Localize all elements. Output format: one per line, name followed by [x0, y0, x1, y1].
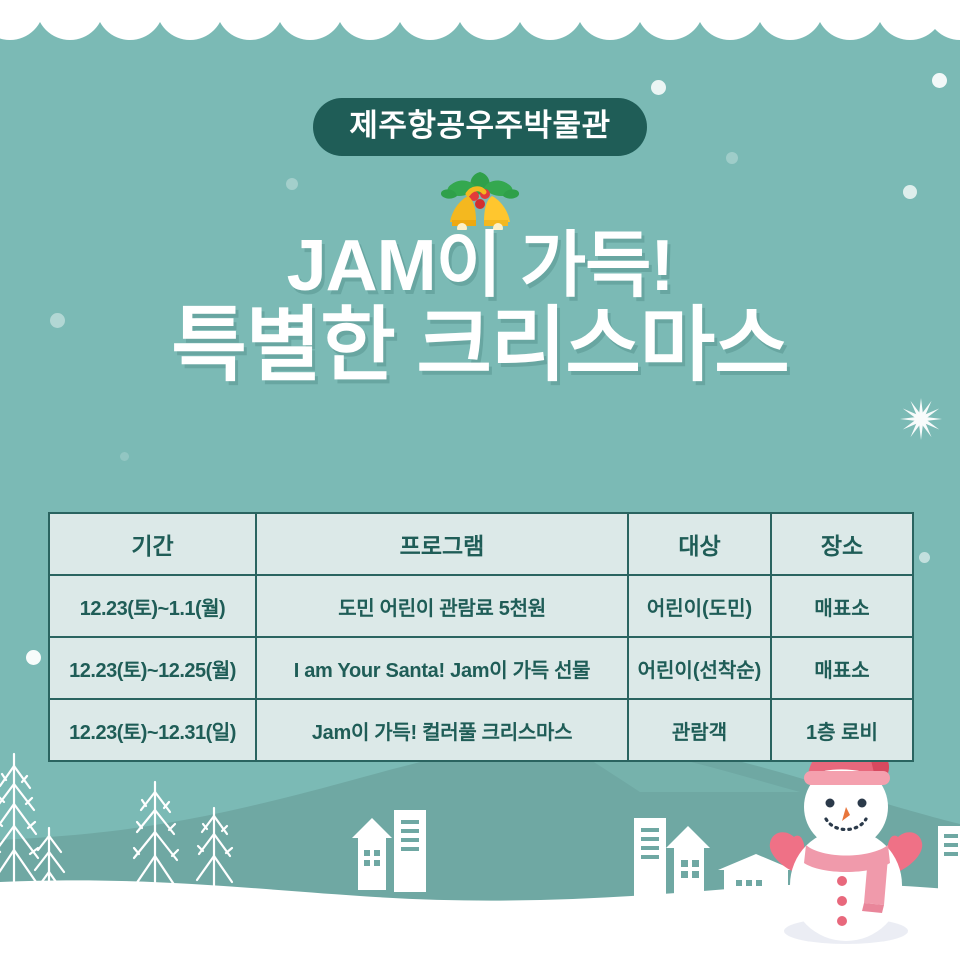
- snowman-button: [837, 916, 847, 926]
- hat-brim: [804, 771, 890, 785]
- mitten-left: [770, 832, 805, 871]
- snowman-body: [790, 829, 902, 941]
- snowman-button: [837, 876, 847, 886]
- snow-dot: [286, 178, 298, 190]
- table-header-row: 기간 프로그램 대상 장소: [49, 513, 913, 575]
- christmas-event-poster: 제주항공우주박물관 JAM이 가득! 특별한: [0, 0, 960, 960]
- museum-name-badge: 제주항공우주박물관: [313, 98, 646, 156]
- snow-dot: [651, 80, 666, 95]
- table-row: 12.23(토)~1.1(월) 도민 어린이 관람료 5천원 어린이(도민) 매…: [49, 575, 913, 637]
- snow-ground: [0, 880, 960, 960]
- cell-place: 매표소: [771, 637, 913, 699]
- sparkle-icon: [736, 787, 784, 840]
- column-header-program: 프로그램: [256, 513, 628, 575]
- title-line-1: JAM이 가득!: [0, 228, 960, 306]
- title-line-2: 특별한 크리스마스: [0, 302, 960, 391]
- cell-target: 어린이(선착순): [628, 637, 771, 699]
- column-header-period: 기간: [49, 513, 256, 575]
- snow-dot: [120, 452, 129, 461]
- snowman-button: [837, 896, 847, 906]
- snow-dot: [932, 73, 947, 88]
- cell-program: Jam이 가득! 컬러풀 크리스마스: [256, 699, 628, 761]
- cell-program: I am Your Santa! Jam이 가득 선물: [256, 637, 628, 699]
- snowman-eye: [858, 799, 867, 808]
- snowman-eye: [826, 799, 835, 808]
- cell-target: 관람객: [628, 699, 771, 761]
- cell-period: 12.23(토)~12.31(일): [49, 699, 256, 761]
- christmas-bells-icon: [422, 168, 538, 235]
- cell-target: 어린이(도민): [628, 575, 771, 637]
- snow-dot: [903, 185, 917, 199]
- snow-dot: [919, 552, 930, 563]
- cell-period: 12.23(토)~12.25(월): [49, 637, 256, 699]
- snowman-smile: [826, 819, 866, 830]
- table-row: 12.23(토)~12.31(일) Jam이 가득! 컬러풀 크리스마스 관람객…: [49, 699, 913, 761]
- snowman-illustration: [750, 745, 942, 950]
- snowman-head: [804, 765, 888, 849]
- scarf: [804, 845, 890, 872]
- cell-place: 매표소: [771, 575, 913, 637]
- museum-badge-container: 제주항공우주박물관: [0, 98, 960, 156]
- village-houses: [352, 810, 960, 906]
- cell-place: 1층 로비: [771, 699, 913, 761]
- mitten-right: [888, 832, 923, 871]
- page-title: JAM이 가득! 특별한 크리스마스: [0, 228, 960, 390]
- hill-shape: [0, 740, 960, 960]
- carrot-nose: [842, 807, 850, 821]
- sparkle-icon: [898, 396, 944, 447]
- schedule-table: 기간 프로그램 대상 장소 12.23(토)~1.1(월) 도민 어린이 관람료…: [48, 512, 914, 762]
- winter-landscape: [0, 730, 960, 960]
- column-header-target: 대상: [628, 513, 771, 575]
- cell-period: 12.23(토)~1.1(월): [49, 575, 256, 637]
- schedule-table-container: 기간 프로그램 대상 장소 12.23(토)~1.1(월) 도민 어린이 관람료…: [48, 512, 912, 762]
- column-header-place: 장소: [771, 513, 913, 575]
- pine-tree: [0, 754, 232, 908]
- snow-dot: [26, 650, 41, 665]
- scalloped-top-border: [0, 0, 960, 52]
- table-row: 12.23(토)~12.25(월) I am Your Santa! Jam이 …: [49, 637, 913, 699]
- cell-program: 도민 어린이 관람료 5천원: [256, 575, 628, 637]
